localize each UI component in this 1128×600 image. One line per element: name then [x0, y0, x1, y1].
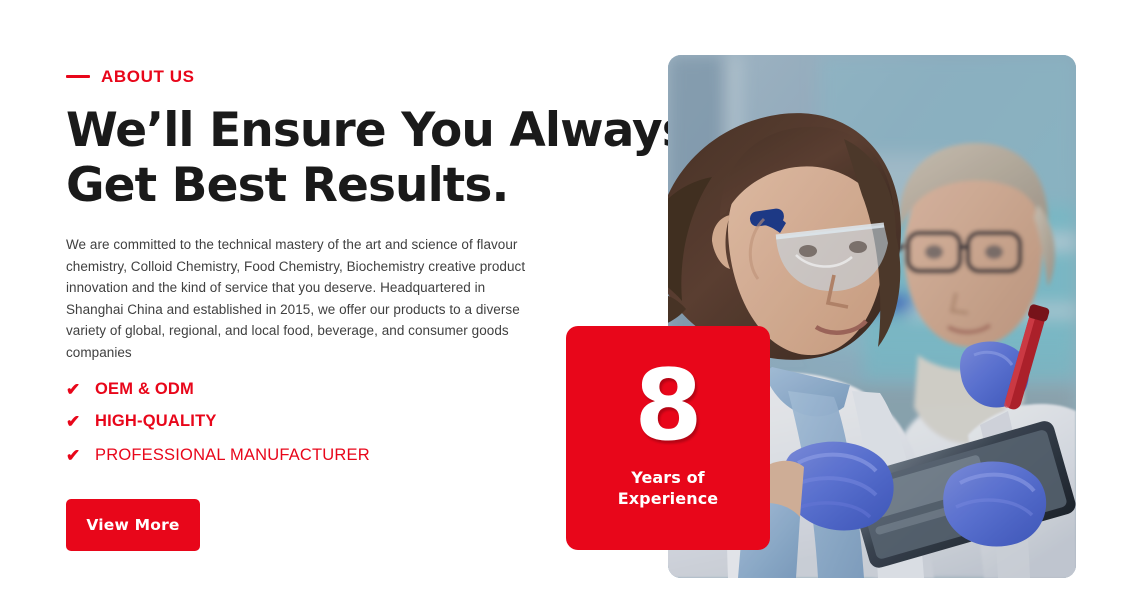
feature-list: ✔ OEM & ODM ✔ HIGH-QUALITY ✔ PROFESSIONA… [66, 378, 546, 466]
about-us-section: ABOUT US We’ll Ensure You Always Get Bes… [0, 0, 1128, 600]
eyebrow-label: ABOUT US [101, 68, 195, 85]
experience-years-number: 8 [634, 361, 701, 451]
check-icon: ✔ [66, 447, 81, 464]
about-paragraph: We are committed to the technical master… [66, 234, 546, 363]
about-content-column: ABOUT US We’ll Ensure You Always Get Bes… [66, 0, 626, 600]
section-eyebrow: ABOUT US [66, 68, 195, 85]
experience-caption-line-2: Experience [618, 488, 719, 509]
experience-caption: Years of Experience [618, 467, 719, 509]
feature-label: HIGH-QUALITY [95, 413, 217, 430]
check-icon: ✔ [66, 381, 81, 398]
feature-label: OEM & ODM [95, 381, 194, 398]
feature-label: PROFESSIONAL MANUFACTURER [95, 447, 370, 464]
list-item: ✔ PROFESSIONAL MANUFACTURER [66, 444, 546, 466]
headline-line-2: Get Best Results. [66, 158, 626, 213]
experience-caption-line-1: Years of [618, 467, 719, 488]
list-item: ✔ HIGH-QUALITY [66, 410, 546, 432]
view-more-button[interactable]: View More [66, 499, 200, 551]
headline-line-1: We’ll Ensure You Always [66, 103, 626, 158]
experience-badge: 8 Years of Experience [566, 326, 770, 550]
list-item: ✔ OEM & ODM [66, 378, 546, 400]
check-icon: ✔ [66, 413, 81, 430]
eyebrow-dash-icon [66, 75, 90, 78]
page-title: We’ll Ensure You Always Get Best Results… [66, 103, 626, 213]
